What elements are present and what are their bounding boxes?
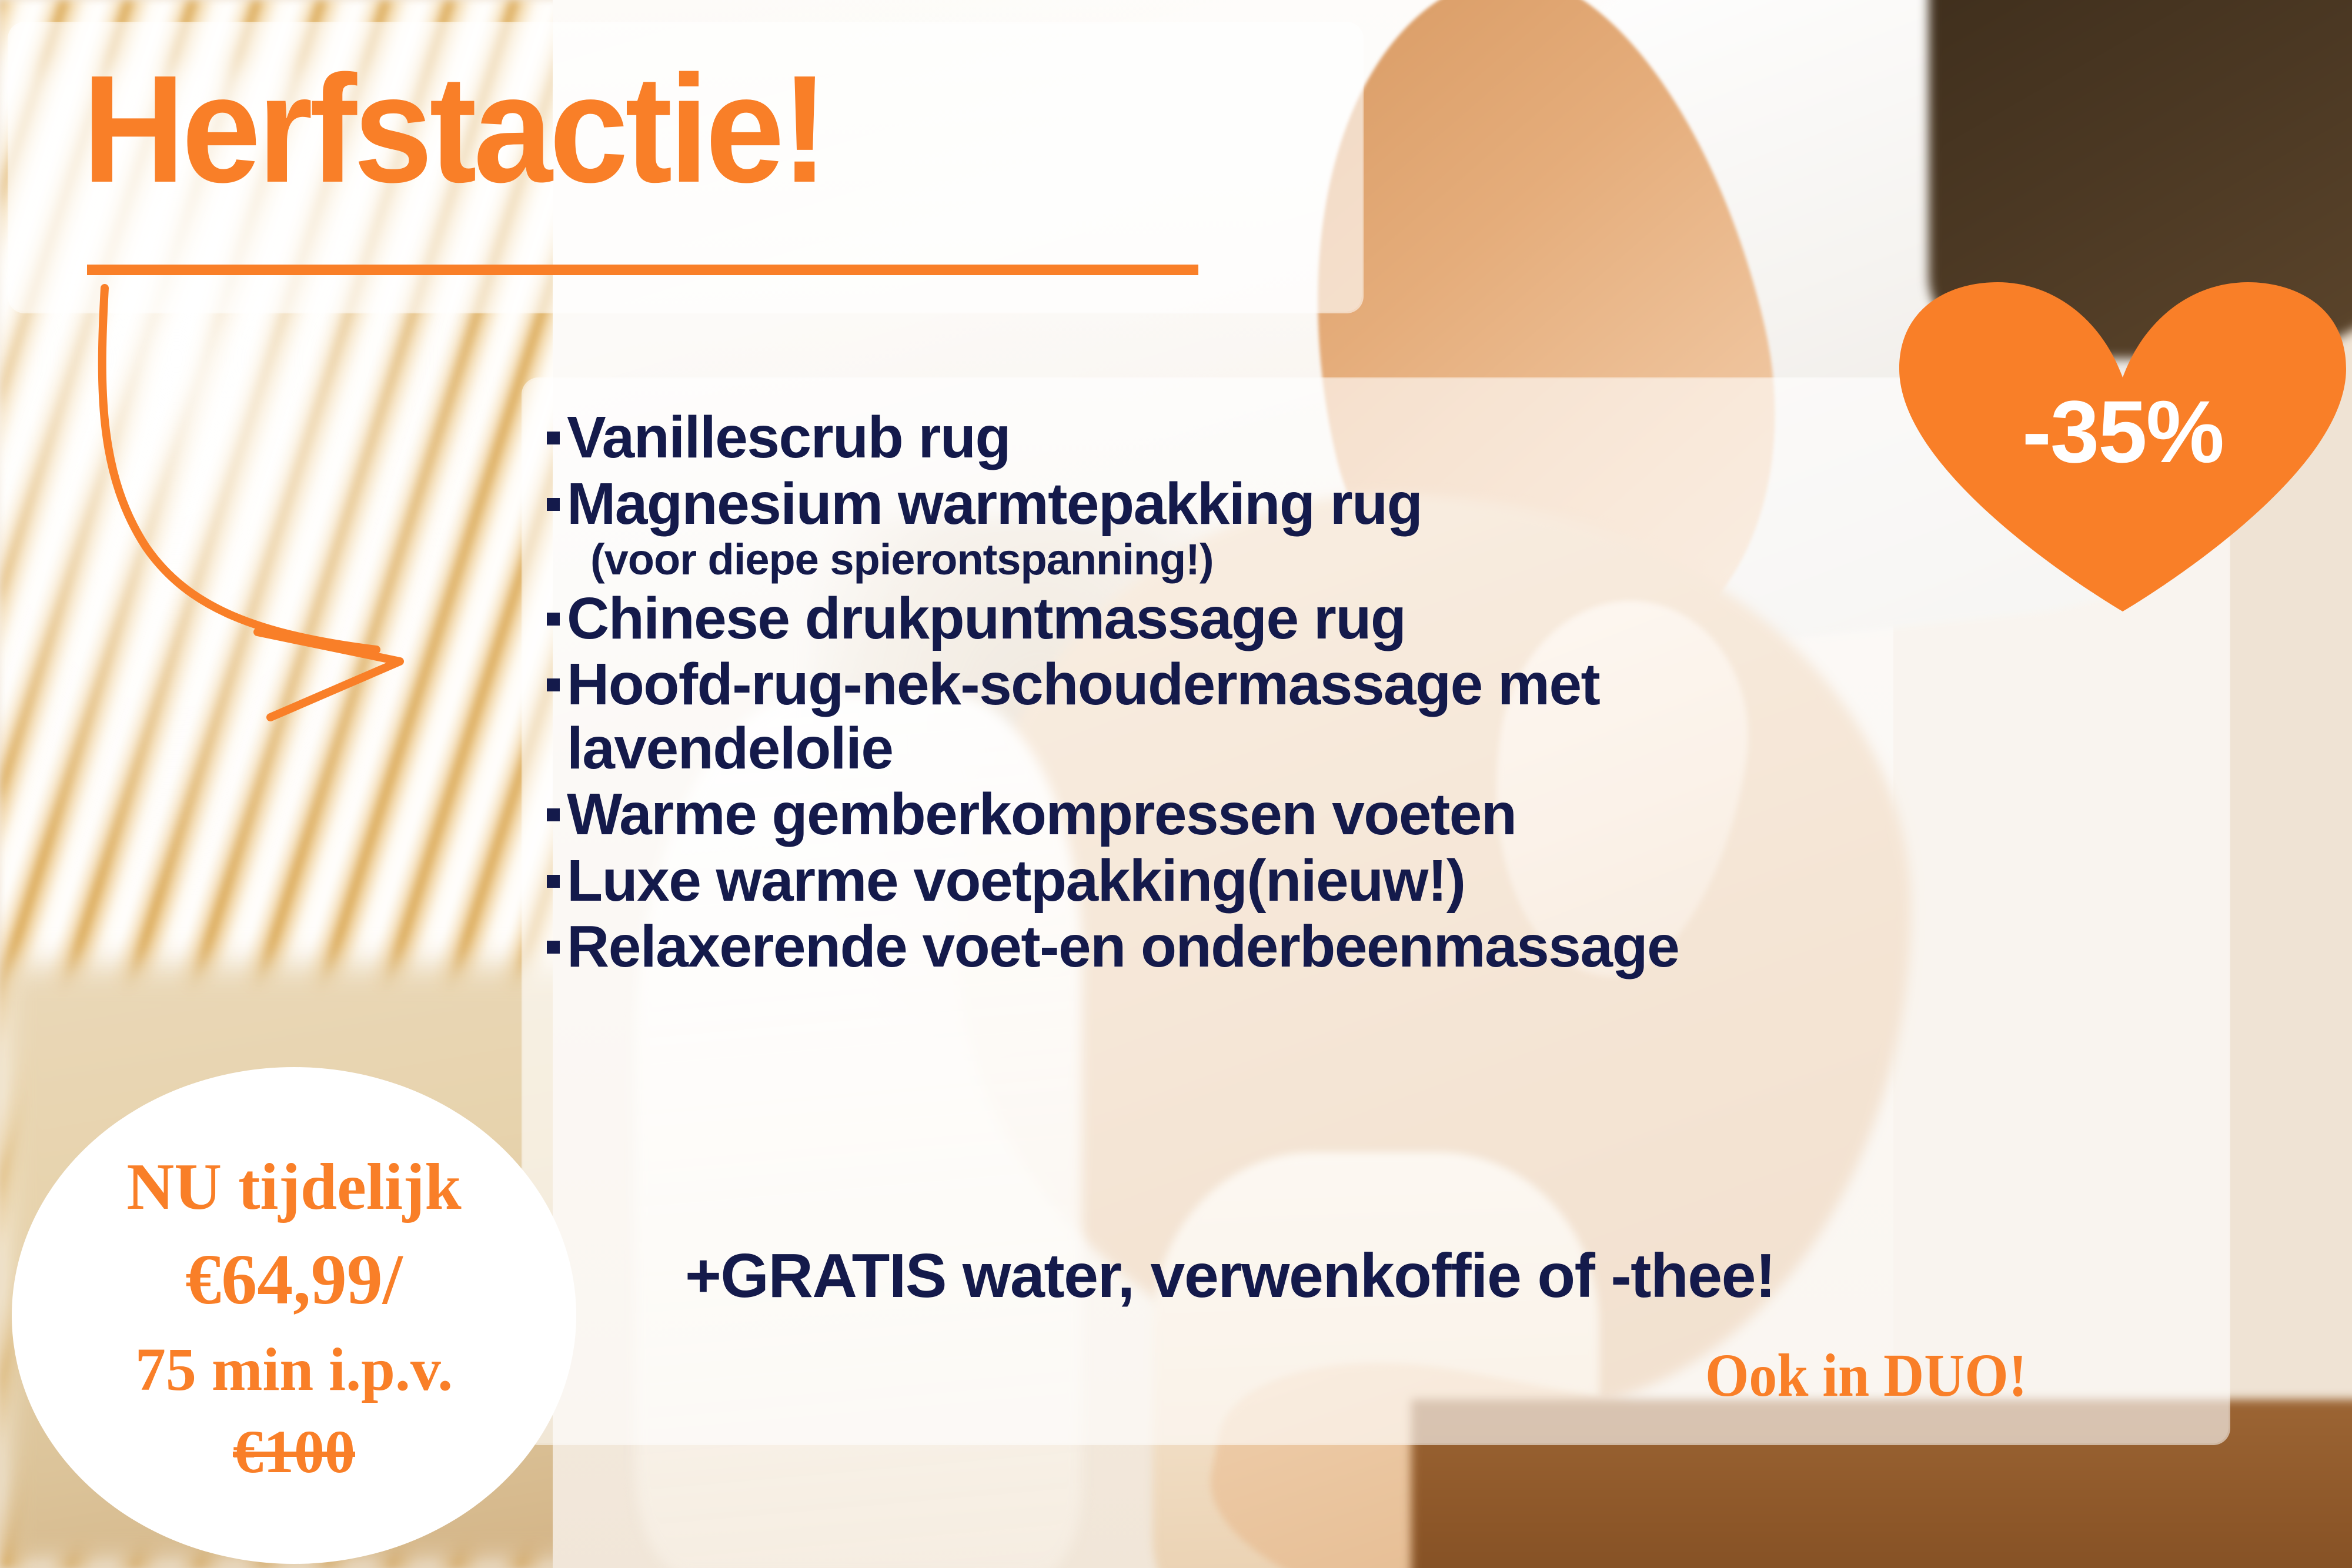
bullet-icon — [547, 432, 560, 444]
service-label: Vanillescrub rug — [567, 406, 1010, 470]
bullet-icon — [547, 613, 560, 626]
price-intro: NU tijdelijk — [126, 1143, 461, 1232]
list-item: Hoofd-rug-nek-schoudermassage met lavend… — [547, 653, 2287, 780]
service-label: Luxe warme voetpakking(nieuw!) — [567, 849, 1465, 913]
service-label: Chinese drukpuntmassage rug — [567, 587, 1406, 651]
price-bubble: NU tijdelijk €64,99/ 75 min i.p.v. €100 — [12, 1067, 576, 1564]
service-label: Warme gemberkompressen voeten — [567, 783, 1516, 847]
list-item: Chinese drukpuntmassage rug — [547, 587, 2287, 651]
page-title: Herfstactie! — [82, 53, 825, 206]
free-extras-text: +GRATIS water, verwenkoffie of -thee! — [685, 1241, 1775, 1312]
bullet-icon — [547, 808, 560, 821]
service-label: Relaxerende voet-en onderbeenmassage — [567, 915, 1679, 979]
curved-arrow-icon — [71, 282, 541, 729]
list-item: Relaxerende voet-en onderbeenmassage — [547, 915, 2287, 979]
list-item: Warme gemberkompressen voeten — [547, 783, 2287, 847]
promo-poster: Herfstactie! -35% Vanillescrub rug Magne… — [0, 0, 2352, 1568]
service-label-continued: lavendelolie — [567, 717, 1599, 781]
service-list: Vanillescrub rug Magnesium warmtepakking… — [547, 406, 2287, 981]
list-item: Magnesium warmtepakking rug (voor diepe … — [547, 472, 2287, 584]
title-underline — [87, 265, 1198, 275]
price-duration: 75 min i.p.v. — [135, 1329, 453, 1411]
bullet-icon — [547, 941, 560, 954]
bullet-icon — [547, 875, 560, 888]
service-subnote: (voor diepe spierontspanning!) — [567, 536, 1422, 584]
service-label: Hoofd-rug-nek-schoudermassage met — [567, 653, 1599, 717]
bullet-icon — [547, 498, 560, 511]
bullet-icon — [547, 678, 560, 691]
price-old: €100 — [233, 1411, 355, 1493]
service-label: Magnesium warmtepakking rug — [567, 472, 1422, 536]
duo-text: Ook in DUO! — [1705, 1340, 2027, 1410]
list-item: Luxe warme voetpakking(nieuw!) — [547, 849, 2287, 913]
list-item: Vanillescrub rug — [547, 406, 2287, 470]
price-new: €64,99/ — [185, 1232, 402, 1329]
